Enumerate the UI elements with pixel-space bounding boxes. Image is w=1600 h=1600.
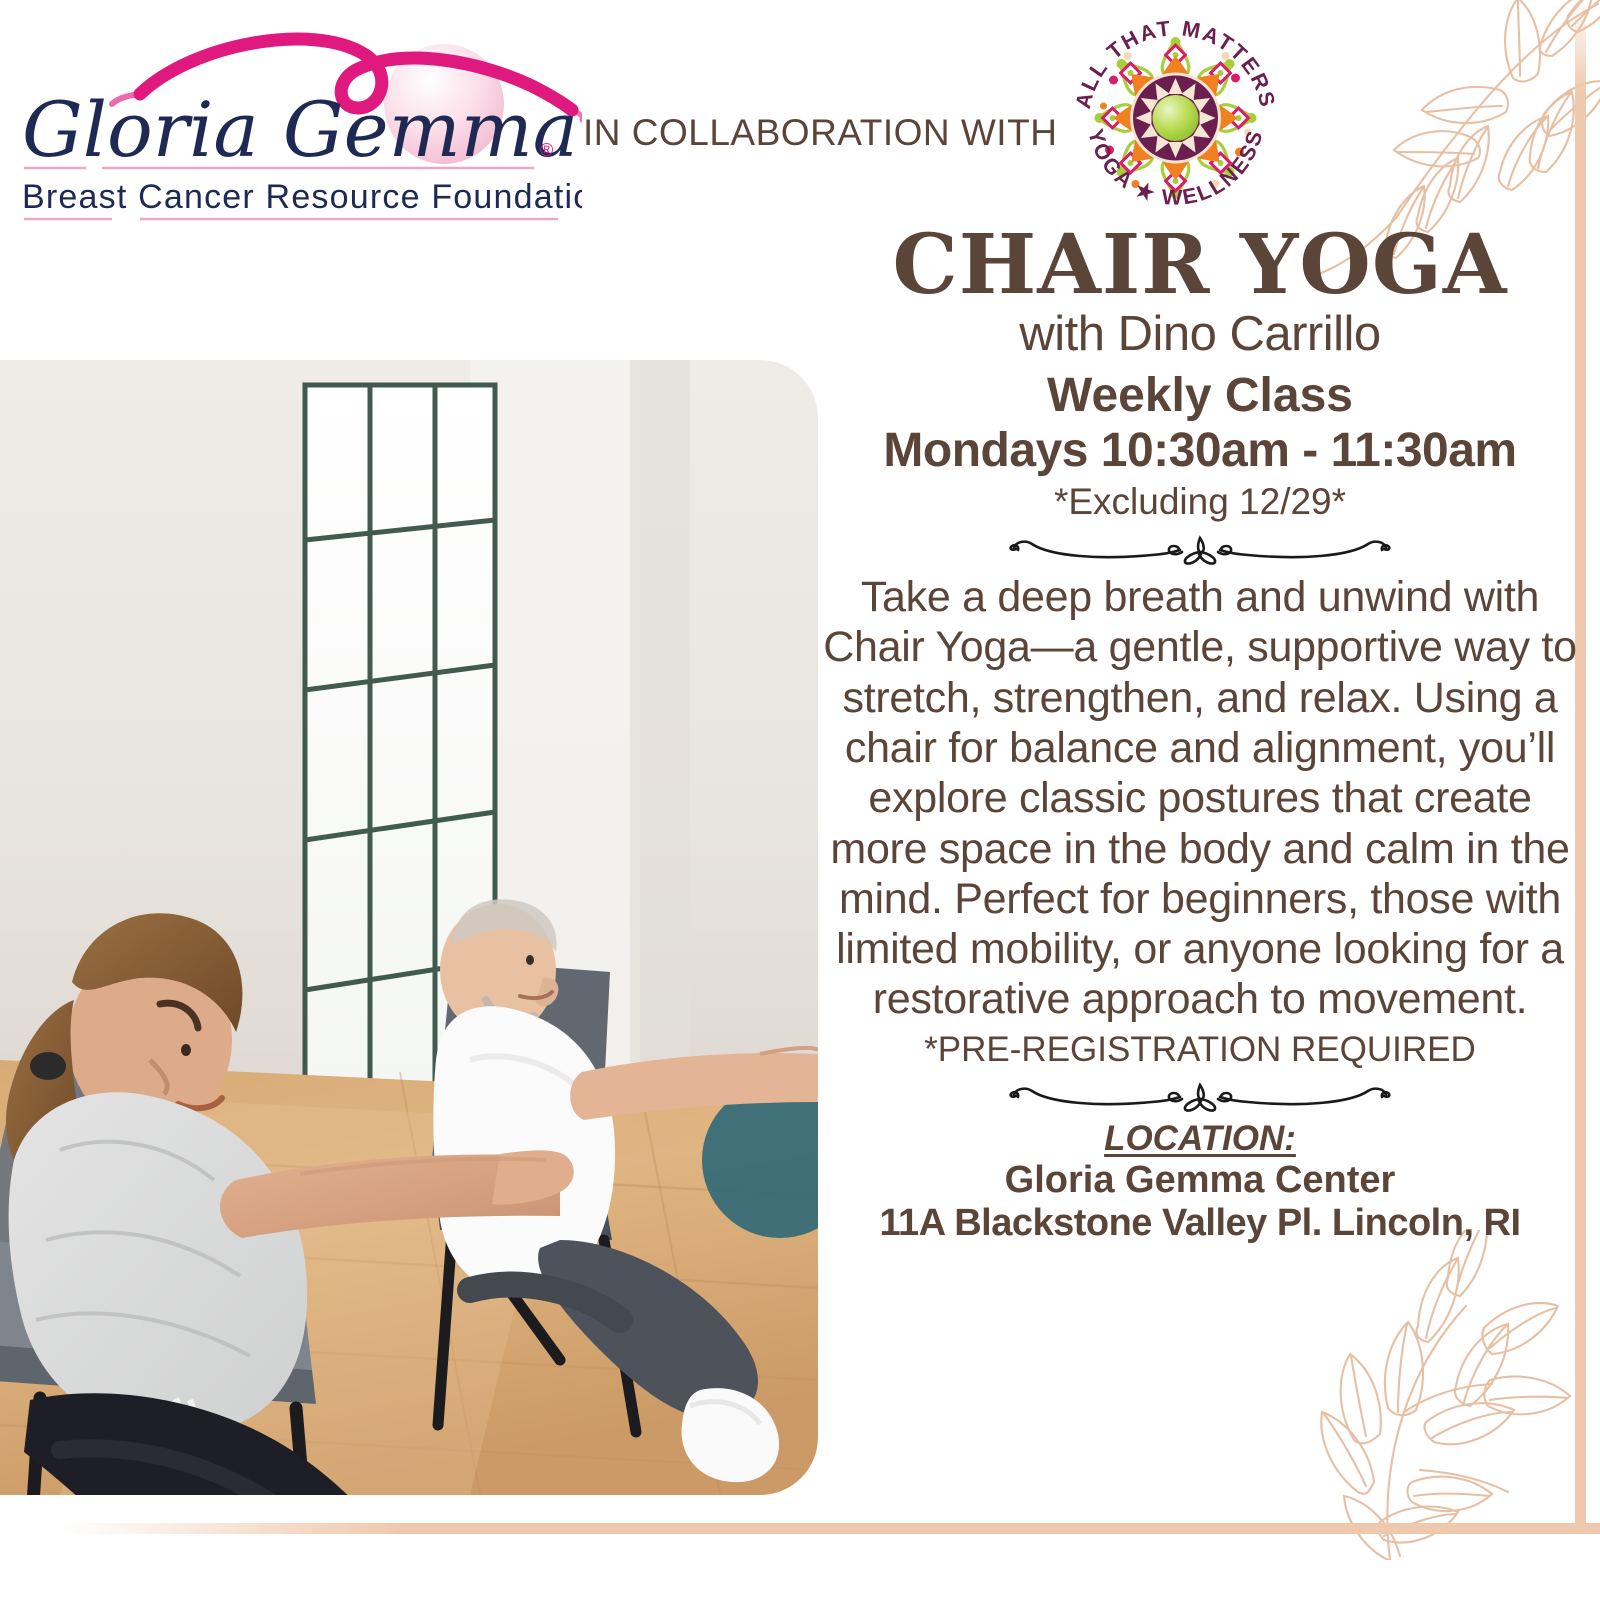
location-heading: LOCATION: bbox=[815, 1119, 1585, 1159]
frame-border-bottom bbox=[60, 1523, 1600, 1534]
page-title: CHAIR YOGA bbox=[815, 225, 1585, 305]
logo-tagline-text: Breast Cancer Resource Foundation bbox=[22, 178, 582, 216]
botanical-leaf-decoration-bottom-right bbox=[1252, 1230, 1582, 1560]
all-that-matters-yoga-wellness-logo: ALL THAT MATTERS YOGA ★ WELLNESS bbox=[1063, 4, 1288, 229]
gloria-gemma-foundation-logo: Gloria Gemma ® Breast Cancer Resource Fo… bbox=[12, 16, 582, 221]
logo-name-text: Gloria Gemma bbox=[22, 85, 578, 174]
location-street-address: 11A Blackstone Valley Pl. Lincoln, RI bbox=[815, 1202, 1585, 1246]
event-details-panel: CHAIR YOGA with Dino Carrillo Weekly Cla… bbox=[815, 225, 1585, 1246]
registered-mark: ® bbox=[540, 140, 553, 160]
instructor-name: with Dino Carrillo bbox=[815, 307, 1585, 362]
collaboration-label: IN COLLABORATION WITH bbox=[583, 112, 1057, 154]
exclusion-note: *Excluding 12/29* bbox=[815, 480, 1585, 524]
class-schedule: Mondays 10:30am - 11:30am bbox=[815, 424, 1585, 478]
class-frequency: Weekly Class bbox=[815, 368, 1585, 424]
class-description: Take a deep breath and unwind with Chair… bbox=[815, 572, 1585, 1025]
location-venue-name: Gloria Gemma Center bbox=[815, 1159, 1585, 1203]
ornamental-divider-bottom bbox=[1002, 1079, 1398, 1113]
location-section: LOCATION: Gloria Gemma Center 11A Blacks… bbox=[815, 1119, 1585, 1246]
registration-requirement-note: *PRE-REGISTRATION REQUIRED bbox=[815, 1029, 1585, 1071]
ornamental-divider-top bbox=[1002, 532, 1398, 566]
chair-yoga-photo: Sign Up bbox=[0, 360, 818, 1495]
